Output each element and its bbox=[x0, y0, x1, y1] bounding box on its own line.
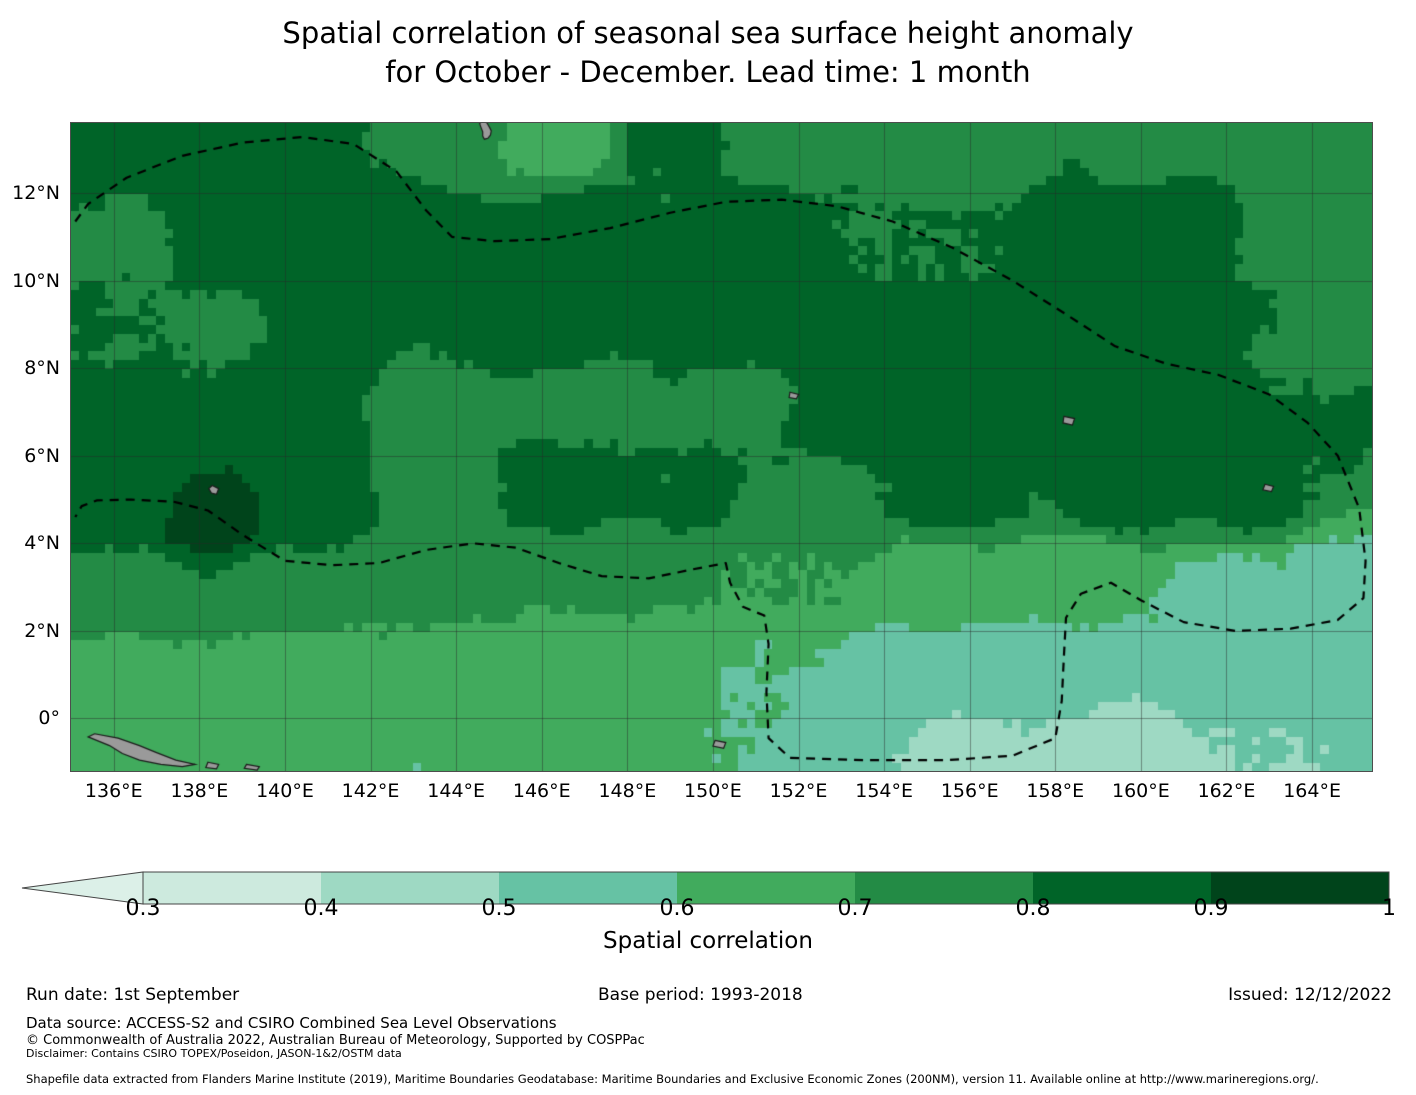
x-axis-tick-label: 160°E bbox=[1112, 780, 1170, 802]
colorbar-tick-label: 0.5 bbox=[482, 896, 517, 921]
colorbar-title: Spatial correlation bbox=[0, 928, 1416, 954]
colorbar-band bbox=[143, 872, 322, 904]
copyright-text: © Commonwealth of Australia 2022, Austra… bbox=[26, 1033, 645, 1048]
x-axis-tick-label: 138°E bbox=[170, 780, 228, 802]
base-period-text: Base period: 1993-2018 bbox=[598, 985, 803, 1005]
colorbar-tick-label: 0.3 bbox=[126, 896, 161, 921]
shapefile-note-text: Shapefile data extracted from Flanders M… bbox=[26, 1072, 1319, 1086]
title-line-1: Spatial correlation of seasonal sea surf… bbox=[0, 14, 1416, 53]
y-axis-tick-label: 4°N bbox=[24, 532, 60, 554]
x-axis-tick-label: 164°E bbox=[1283, 780, 1341, 802]
colorbar-band bbox=[499, 872, 678, 904]
colorbar-band bbox=[855, 872, 1034, 904]
x-axis-tick-label: 144°E bbox=[427, 780, 485, 802]
x-axis-tick-label: 148°E bbox=[598, 780, 656, 802]
colorbar-tick-label: 1 bbox=[1382, 896, 1396, 921]
colorbar-band bbox=[1033, 872, 1212, 904]
footer-meta-row: Run date: 1st September Base period: 199… bbox=[0, 985, 1416, 1007]
x-axis-tick-label: 154°E bbox=[855, 780, 913, 802]
run-date-text: Run date: 1st September bbox=[26, 985, 239, 1005]
colorbar-band bbox=[677, 872, 856, 904]
y-axis-tick-label: 6°N bbox=[24, 445, 60, 467]
y-axis-tick-label: 12°N bbox=[12, 182, 60, 204]
x-axis-tick-label: 146°E bbox=[513, 780, 571, 802]
colorbar-tick-label: 0.8 bbox=[1016, 896, 1051, 921]
x-axis-tick-label: 162°E bbox=[1198, 780, 1256, 802]
title-line-2: for October - December. Lead time: 1 mon… bbox=[0, 53, 1416, 92]
issued-date-text: Issued: 12/12/2022 bbox=[1228, 985, 1392, 1005]
x-axis-tick-label: 140°E bbox=[256, 780, 314, 802]
x-axis-tick-label: 136°E bbox=[85, 780, 143, 802]
y-axis-tick-label: 10°N bbox=[12, 270, 60, 292]
correlation-map-panel bbox=[70, 122, 1373, 772]
colorbar-tick-label: 0.9 bbox=[1194, 896, 1229, 921]
colorbar-band bbox=[321, 872, 500, 904]
x-axis-tick-label: 142°E bbox=[342, 780, 400, 802]
x-axis-tick-label: 152°E bbox=[770, 780, 828, 802]
x-axis-tick-label: 158°E bbox=[1026, 780, 1084, 802]
disclaimer-text: Disclaimer: Contains CSIRO TOPEX/Poseido… bbox=[26, 1047, 402, 1060]
page-title: Spatial correlation of seasonal sea surf… bbox=[0, 14, 1416, 92]
colorbar-tick-label: 0.7 bbox=[838, 896, 873, 921]
data-source-text: Data source: ACCESS-S2 and CSIRO Combine… bbox=[26, 1014, 557, 1032]
colorbar-band bbox=[1211, 872, 1390, 904]
colorbar-tick-label: 0.6 bbox=[660, 896, 695, 921]
colorbar-tick-label: 0.4 bbox=[304, 896, 339, 921]
x-axis-tick-label: 156°E bbox=[941, 780, 999, 802]
y-axis-tick-label: 0° bbox=[38, 707, 60, 729]
y-axis-tick-label: 8°N bbox=[24, 357, 60, 379]
x-axis-tick-label: 150°E bbox=[684, 780, 742, 802]
correlation-heatmap-canvas bbox=[71, 123, 1372, 771]
y-axis-tick-label: 2°N bbox=[24, 620, 60, 642]
